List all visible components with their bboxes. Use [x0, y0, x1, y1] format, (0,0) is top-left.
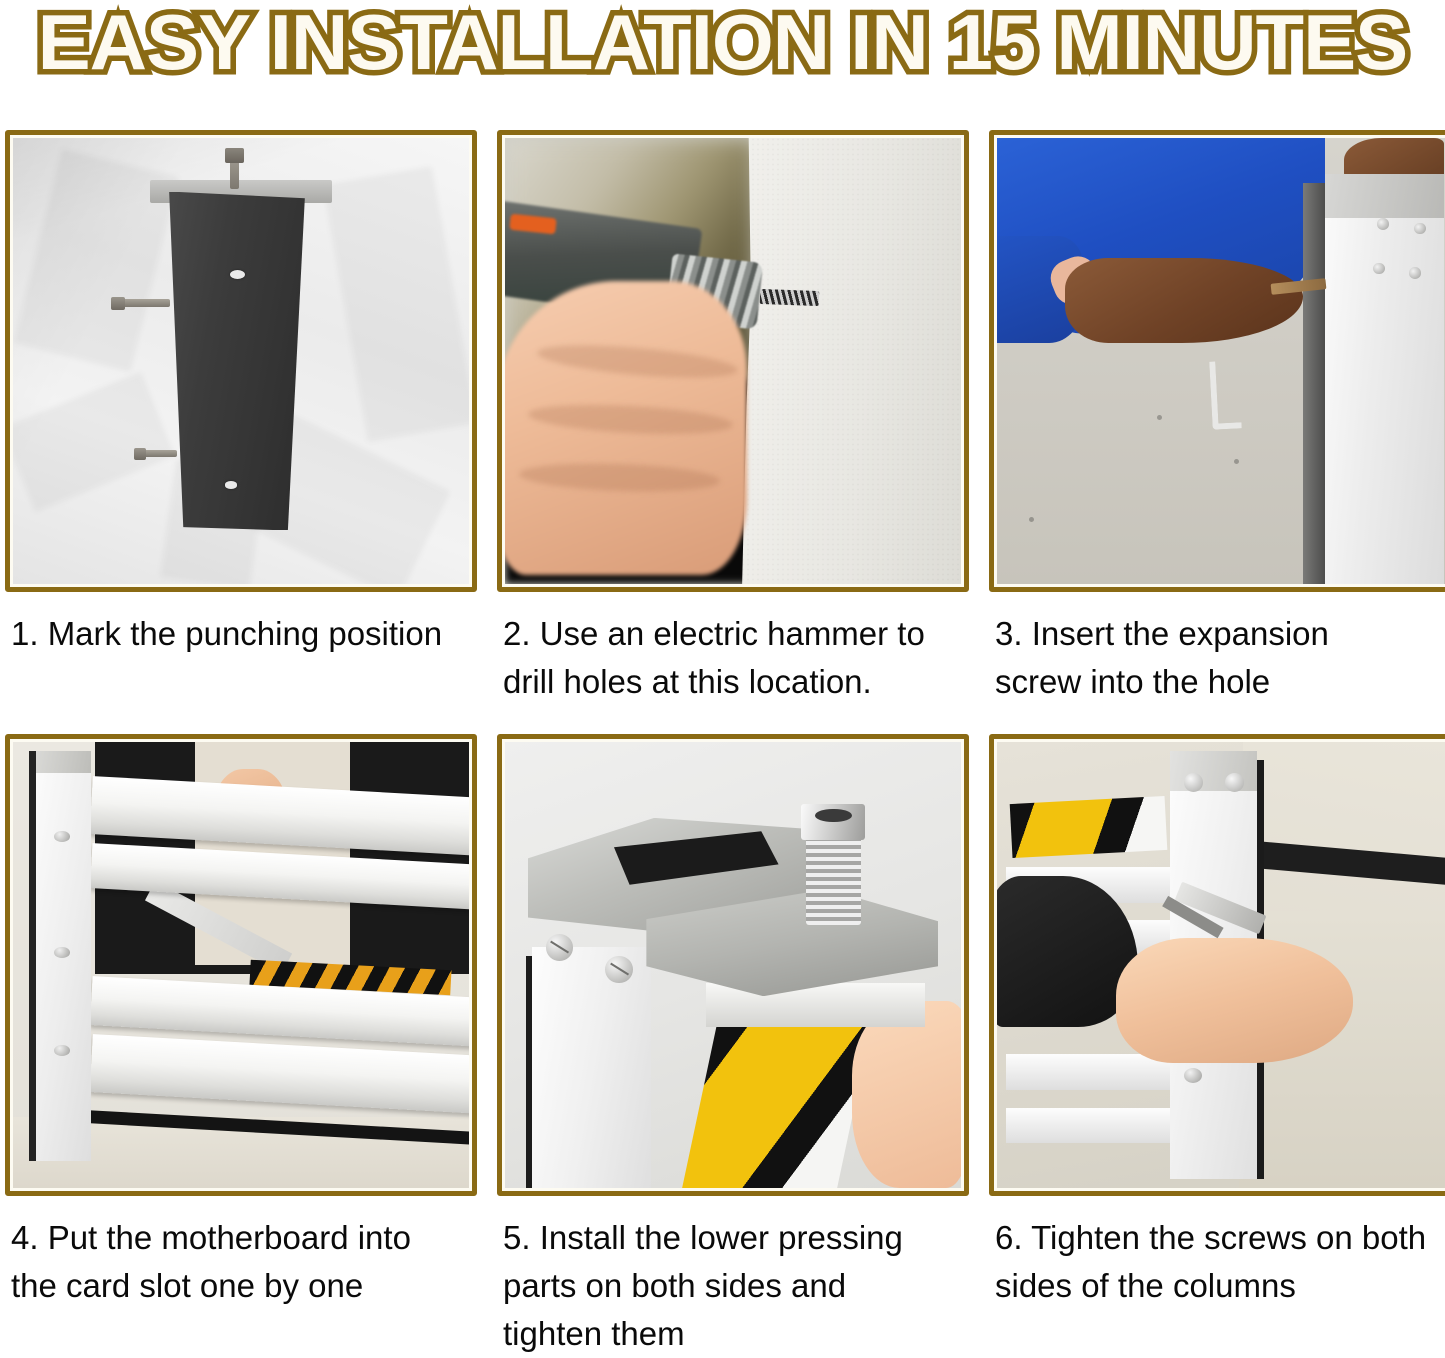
step-photo-5: [505, 742, 961, 1188]
card-slot-hole: [54, 831, 70, 842]
white-wall: [742, 138, 961, 584]
column-screw: [1409, 267, 1421, 279]
hand: [1116, 938, 1353, 1063]
page-title: EASY INSTALLATION IN 15 MINUTES: [38, 2, 1408, 82]
column-dark-edge: [1303, 183, 1326, 584]
step-photo-4: [13, 742, 469, 1188]
floor-speck: [1029, 517, 1034, 522]
steps-row-bottom: 4. Put the motherboard into the card slo…: [0, 734, 1445, 1358]
column-screw: [1225, 773, 1244, 792]
aluminium-column: [532, 947, 651, 1188]
bracket-screw: [546, 934, 573, 961]
step-photo-frame-5: [497, 734, 969, 1196]
forearm: [1065, 258, 1302, 343]
top-bolt-head: [225, 148, 243, 163]
column-screw: [1373, 263, 1385, 275]
step-photo-6: [997, 742, 1445, 1188]
step-card-6: 6. Tighten the screws on both sides of t…: [989, 734, 1445, 1358]
hand: [852, 1001, 961, 1188]
column-screw: [1377, 218, 1389, 230]
floor-speck: [1234, 459, 1239, 464]
step-photo-frame-4: [5, 734, 477, 1196]
floor-speck: [1157, 415, 1162, 420]
step-card-4: 4. Put the motherboard into the card slo…: [5, 734, 477, 1358]
card-slot-hole: [54, 1045, 70, 1056]
step-photo-frame-2: [497, 130, 969, 592]
page-header: EASY INSTALLATION IN 15 MINUTES: [0, 0, 1445, 98]
hex-bolt-socket: [815, 809, 851, 822]
mounting-hole: [225, 481, 237, 488]
hazard-stripe: [1009, 796, 1167, 858]
step-photo-3: [997, 138, 1445, 584]
step-photo-frame-6: [989, 734, 1445, 1196]
step-card-1: 1. Mark the punching position: [5, 130, 477, 706]
column-top-plate: [1325, 174, 1444, 219]
step-caption-6: 6. Tighten the screws on both sides of t…: [989, 1214, 1445, 1310]
step-photo-frame-3: [989, 130, 1445, 592]
card-slot-hole: [54, 947, 70, 958]
side-bolt-head: [134, 448, 146, 460]
column-screw: [1184, 773, 1203, 792]
step-caption-2: 2. Use an electric hammer to drill holes…: [497, 610, 969, 706]
side-bolt-head: [111, 297, 125, 310]
column-screw: [1184, 1068, 1202, 1083]
step-photo-1: [13, 138, 469, 584]
step-card-2: 2. Use an electric hammer to drill holes…: [497, 130, 969, 706]
step-caption-1: 1. Mark the punching position: [5, 610, 477, 658]
board-plank: [89, 1034, 469, 1114]
step-card-3: 3. Insert the expansion screw into the h…: [989, 130, 1445, 706]
fabric-crease: [13, 372, 174, 512]
mounting-hole: [230, 270, 246, 279]
column-post: [163, 192, 304, 531]
bracket-screw: [605, 956, 632, 983]
column-top-plate: [1170, 751, 1257, 791]
hazard-stripe: [682, 1010, 875, 1188]
allen-wrench: [1210, 360, 1242, 430]
step-caption-5: 5. Install the lower pressing parts on b…: [497, 1214, 969, 1358]
step-caption-4: 4. Put the motherboard into the card slo…: [5, 1214, 477, 1310]
column-top-plate: [36, 751, 91, 773]
step-photo-frame-1: [5, 130, 477, 592]
column-screw: [1414, 223, 1426, 235]
drill-bit: [760, 289, 820, 306]
fabric-crease: [324, 166, 469, 441]
steps-row-top: 1. Mark the punching position 2. Use an …: [0, 130, 1445, 706]
step-card-5: 5. Install the lower pressing parts on b…: [497, 734, 969, 1358]
step-photo-2: [505, 138, 961, 584]
aluminium-column: [1325, 174, 1444, 584]
board-plank: [1006, 1108, 1179, 1144]
step-caption-3: 3. Insert the expansion screw into the h…: [989, 610, 1445, 706]
